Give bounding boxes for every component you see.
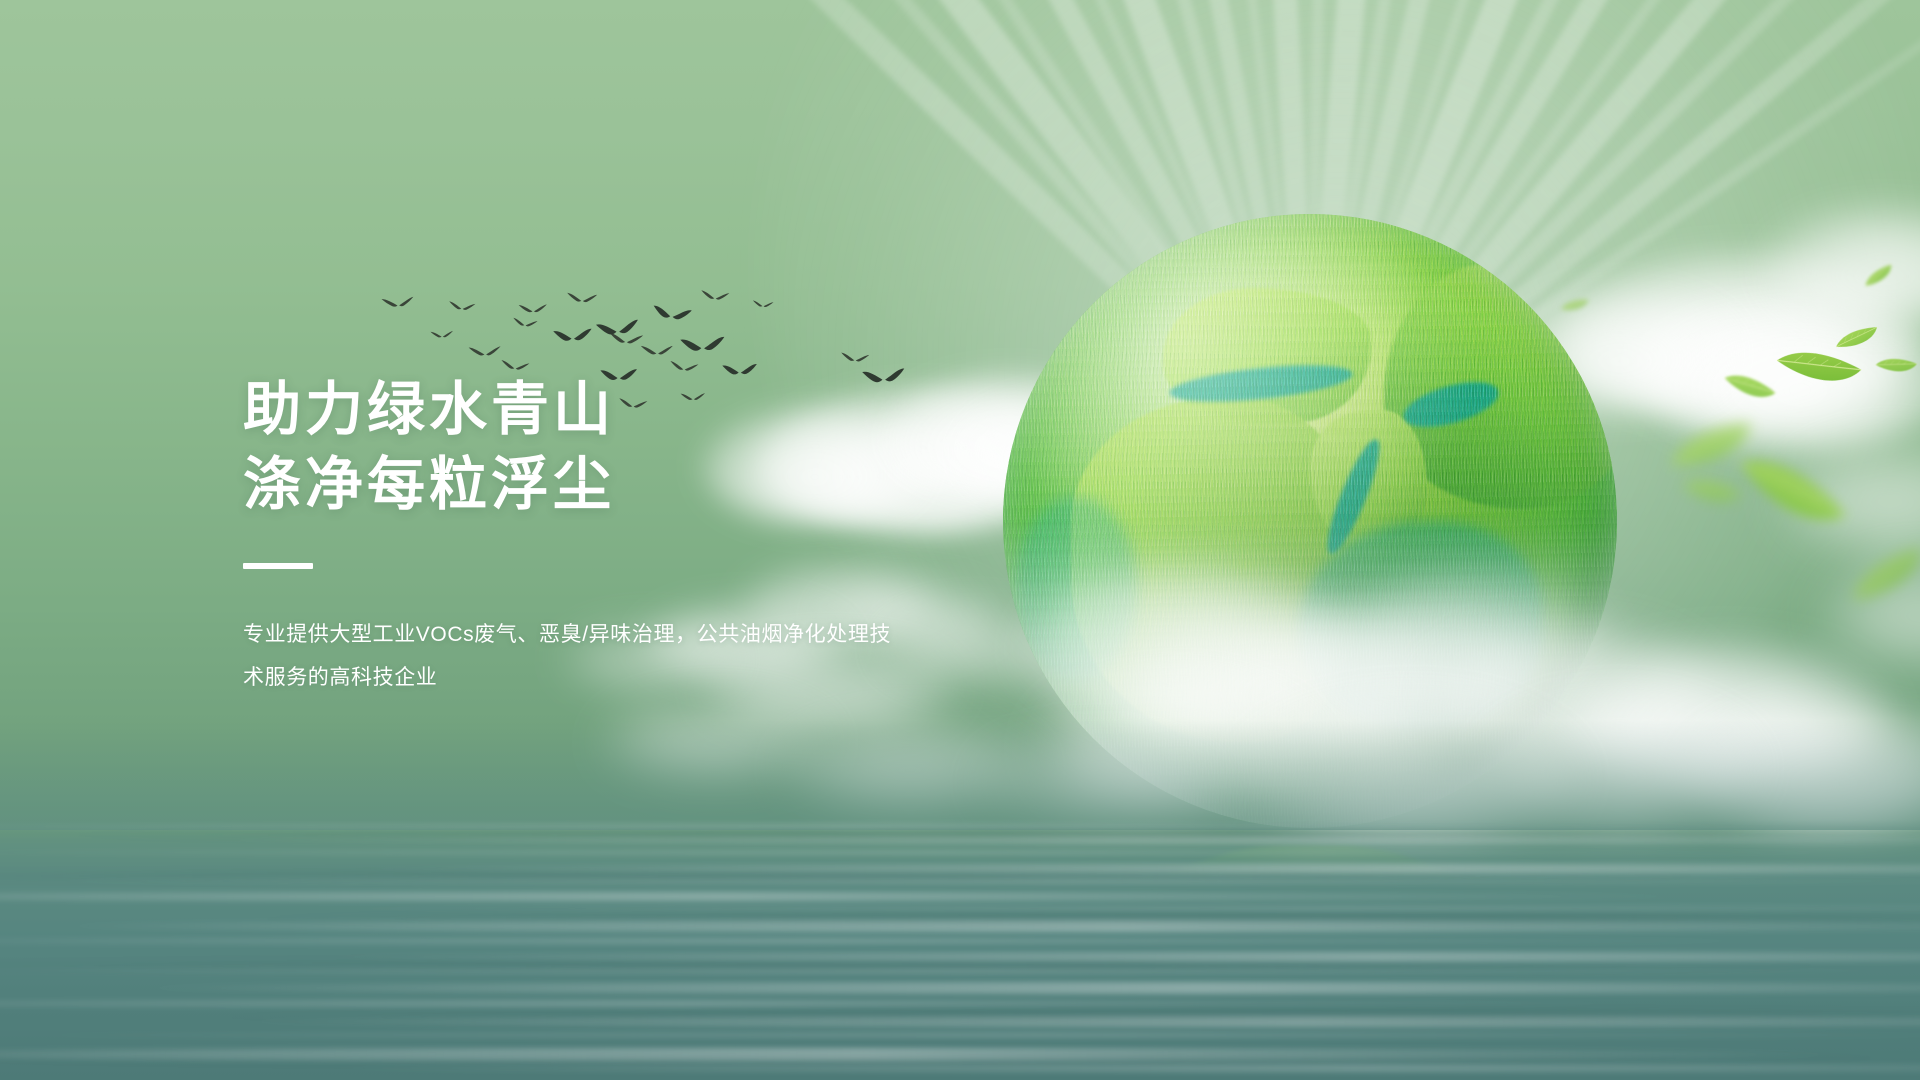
bird-icon: [430, 329, 455, 341]
bird-icon: [679, 334, 727, 358]
bird-icon: [700, 289, 731, 304]
headline-divider: [243, 563, 313, 569]
water-ripple: [263, 906, 1920, 911]
bird-icon: [448, 300, 477, 314]
water-ripple: [283, 1064, 1920, 1072]
water-ripple: [0, 1032, 1920, 1038]
reflective-water-surface: [0, 820, 1920, 1080]
water-ripple: [123, 982, 1920, 994]
bird-icon: [566, 291, 598, 306]
bird-icon: [552, 326, 593, 347]
water-ripple: [0, 1000, 1677, 1007]
bird-icon: [840, 351, 871, 366]
hero-copy-block: 助力绿水青山 涤净每粒浮尘 专业提供大型工业VOCs废气、恶臭/异味治理，公共油…: [243, 372, 1003, 699]
bird-icon: [752, 299, 774, 310]
water-horizon-blend: [0, 720, 1920, 830]
bird-icon: [518, 302, 549, 317]
hero-subtitle: 专业提供大型工业VOCs废气、恶臭/异味治理，公共油烟净化处理技术服务的高科技企…: [243, 613, 903, 699]
headline-line-2: 涤净每粒浮尘: [243, 447, 1003, 522]
water-ripple-dark: [0, 1052, 1920, 1064]
bird-icon: [468, 344, 503, 361]
bird-icon: [640, 343, 675, 359]
water-ripple: [0, 824, 1837, 829]
water-ripple: [0, 892, 1717, 901]
water-ripple: [0, 938, 1817, 944]
eco-hero-banner: 助力绿水青山 涤净每粒浮尘 专业提供大型工业VOCs废气、恶臭/异味治理，公共油…: [0, 0, 1920, 1080]
water-ripple: [0, 850, 1920, 855]
headline-line-1: 助力绿水青山: [243, 372, 1003, 447]
